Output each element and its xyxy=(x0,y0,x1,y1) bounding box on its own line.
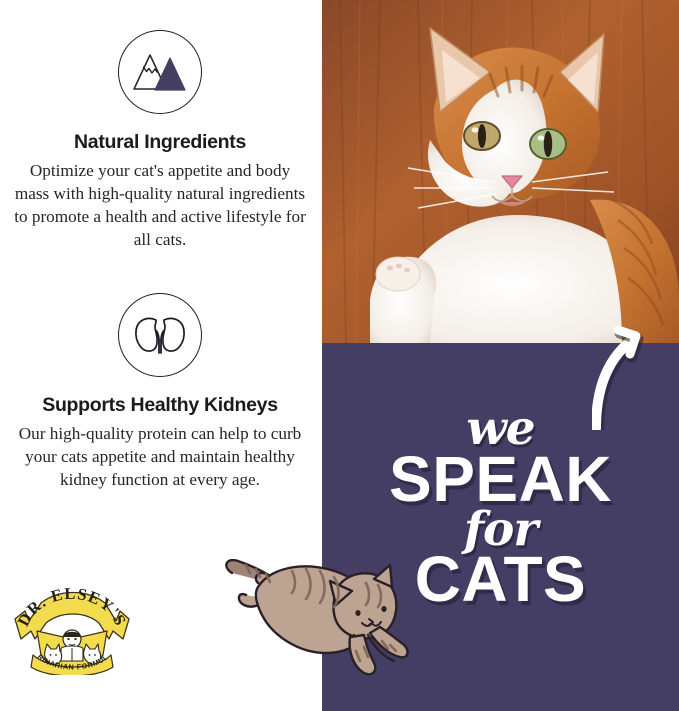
feature-title: Supports Healthy Kidneys xyxy=(0,395,320,416)
feature-block-healthy-kidneys: Supports Healthy Kidneys Our high-qualit… xyxy=(0,293,320,492)
hero-cat-photo xyxy=(322,0,679,343)
kidneys-icon xyxy=(118,293,202,377)
feature-body: Optimize your cat's appetite and body ma… xyxy=(0,160,320,252)
brand-logo: DR. ELSEY'S xyxy=(11,583,133,675)
feature-body: Our high-quality protein can help to cur… xyxy=(0,423,320,492)
leaping-tabby-cat-illustration xyxy=(218,543,414,678)
mountains-icon xyxy=(118,30,202,114)
product-infographic: Natural Ingredients Optimize your cat's … xyxy=(0,0,679,711)
feature-title: Natural Ingredients xyxy=(0,132,320,153)
feature-block-natural-ingredients: Natural Ingredients Optimize your cat's … xyxy=(0,30,320,252)
